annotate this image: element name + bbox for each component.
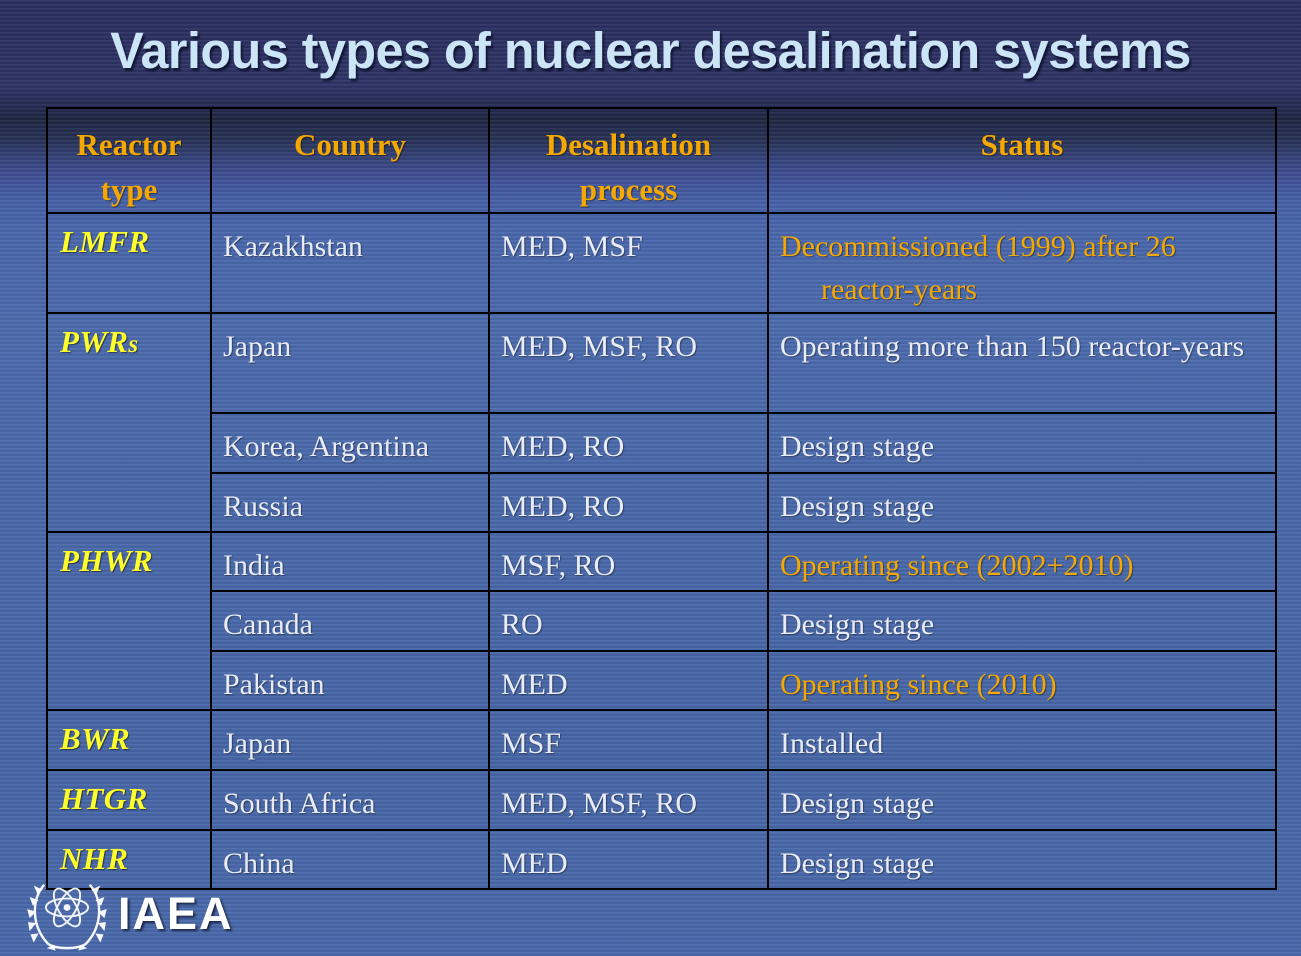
cell-country: Japan — [211, 313, 489, 413]
cell-country-text: South Africa — [212, 771, 488, 825]
cell-country-text: Kazakhstan — [212, 214, 488, 268]
cell-desalination-process-text: MED, RO — [490, 414, 767, 468]
reactor-type-label: NHR — [48, 831, 210, 876]
table-row: CanadaRODesign stage — [47, 591, 1276, 651]
title-bar: Various types of nuclear desalination sy… — [0, 0, 1301, 100]
desalination-systems-table-container: Reactor type Country Desalination proces… — [46, 107, 1275, 882]
cell-desalination-process: MSF — [489, 710, 768, 770]
cell-status: Design stage — [768, 591, 1276, 651]
table-row: PWRsJapanMED, MSF, ROOperating more than… — [47, 313, 1276, 413]
cell-desalination-process-text: MED — [490, 831, 767, 885]
reactor-type-label: PWRs — [48, 314, 210, 359]
table-row: LMFRKazakhstanMED, MSFDecommissioned (19… — [47, 213, 1276, 312]
cell-desalination-process: MED, MSF — [489, 213, 768, 312]
cell-status: Operating since (2010) — [768, 651, 1276, 710]
cell-country-text: Canada — [212, 592, 488, 646]
column-header-country: Country — [211, 108, 489, 213]
cell-desalination-process: RO — [489, 591, 768, 651]
table-row: Korea, ArgentinaMED, RODesign stage — [47, 413, 1276, 473]
cell-status-text: Design stage — [769, 771, 1275, 825]
cell-country-text: Russia — [212, 474, 488, 528]
reactor-type-label: PHWR — [48, 533, 210, 578]
cell-status-text: Decommissioned (1999) after 26 reactor-y… — [769, 214, 1275, 311]
cell-reactor-type: BWR — [47, 710, 211, 770]
cell-status-text: Design stage — [769, 831, 1275, 885]
cell-desalination-process-text: MED, MSF — [490, 214, 767, 268]
cell-desalination-process: MED, MSF, RO — [489, 770, 768, 830]
table-row: BWRJapanMSFInstalled — [47, 710, 1276, 770]
cell-desalination-process-text: MED, MSF, RO — [490, 314, 767, 368]
cell-desalination-process: MED — [489, 651, 768, 710]
cell-country: Russia — [211, 473, 489, 532]
cell-desalination-process-text: RO — [490, 592, 767, 646]
slide-canvas: Various types of nuclear desalination sy… — [0, 0, 1301, 956]
column-header-reactor-type-l1: Reactor — [48, 109, 210, 168]
table-header-row: Reactor type Country Desalination proces… — [47, 108, 1276, 213]
cell-country-text: Korea, Argentina — [212, 414, 488, 468]
column-header-country-label: Country — [212, 109, 488, 168]
table-row: RussiaMED, RODesign stage — [47, 473, 1276, 532]
cell-country-text: Pakistan — [212, 652, 488, 706]
column-header-desalination-process: Desalination process — [489, 108, 768, 213]
cell-desalination-process-text: MED, RO — [490, 474, 767, 528]
cell-status: Design stage — [768, 473, 1276, 532]
cell-status-text: Design stage — [769, 414, 1275, 468]
column-header-status-label: Status — [769, 109, 1275, 168]
cell-country-text: Japan — [212, 711, 488, 765]
cell-desalination-process-text: MSF — [490, 711, 767, 765]
reactor-type-label: HTGR — [48, 771, 210, 816]
cell-desalination-process: MED, MSF, RO — [489, 313, 768, 413]
cell-desalination-process-text: MSF, RO — [490, 533, 767, 587]
cell-reactor-type: HTGR — [47, 770, 211, 830]
table-row: PHWRIndiaMSF, ROOperating since (2002+20… — [47, 532, 1276, 591]
cell-reactor-type: LMFR — [47, 213, 211, 312]
cell-country: Korea, Argentina — [211, 413, 489, 473]
cell-status-text: Design stage — [769, 474, 1275, 528]
table-row: PakistanMEDOperating since (2010) — [47, 651, 1276, 710]
cell-reactor-type: PWRs — [47, 313, 211, 532]
column-header-reactor-type-l2: type — [48, 168, 210, 213]
cell-country: Kazakhstan — [211, 213, 489, 312]
table-body: LMFRKazakhstanMED, MSFDecommissioned (19… — [47, 213, 1276, 888]
cell-status-text: Design stage — [769, 592, 1275, 646]
column-header-reactor-type: Reactor type — [47, 108, 211, 213]
reactor-type-label: BWR — [48, 711, 210, 756]
cell-country: India — [211, 532, 489, 591]
cell-status: Operating since (2002+2010) — [768, 532, 1276, 591]
cell-country-text: India — [212, 533, 488, 587]
iaea-logo: IAEA — [26, 874, 326, 954]
cell-status: Installed — [768, 710, 1276, 770]
cell-status-text: Operating more than 150 reactor-years — [769, 314, 1275, 368]
cell-desalination-process: MSF, RO — [489, 532, 768, 591]
cell-status: Decommissioned (1999) after 26 reactor-y… — [768, 213, 1276, 312]
cell-country: South Africa — [211, 770, 489, 830]
column-header-process-l2: process — [490, 168, 767, 213]
cell-desalination-process-text: MED — [490, 652, 767, 706]
cell-reactor-type: PHWR — [47, 532, 211, 710]
cell-desalination-process: MED, RO — [489, 473, 768, 532]
column-header-status: Status — [768, 108, 1276, 213]
cell-status: Operating more than 150 reactor-years — [768, 313, 1276, 413]
cell-status: Design stage — [768, 830, 1276, 889]
cell-country-text: Japan — [212, 314, 488, 368]
cell-desalination-process: MED — [489, 830, 768, 889]
column-header-process-l1: Desalination — [490, 109, 767, 168]
reactor-type-suffix: s — [128, 331, 138, 358]
iaea-atom-laurel-icon — [26, 875, 108, 953]
reactor-type-label: LMFR — [48, 214, 210, 259]
cell-desalination-process-text: MED, MSF, RO — [490, 771, 767, 825]
cell-status-text: Operating since (2010) — [769, 652, 1275, 706]
table-row: HTGRSouth AfricaMED, MSF, RODesign stage — [47, 770, 1276, 830]
desalination-systems-table: Reactor type Country Desalination proces… — [46, 107, 1277, 890]
cell-status-text: Installed — [769, 711, 1275, 765]
cell-status-text: Operating since (2002+2010) — [769, 533, 1275, 587]
iaea-wordmark: IAEA — [118, 888, 234, 940]
page-title: Various types of nuclear desalination sy… — [110, 25, 1191, 76]
cell-desalination-process: MED, RO — [489, 413, 768, 473]
cell-status: Design stage — [768, 413, 1276, 473]
cell-status: Design stage — [768, 770, 1276, 830]
cell-country: Japan — [211, 710, 489, 770]
cell-country: Pakistan — [211, 651, 489, 710]
cell-country: Canada — [211, 591, 489, 651]
